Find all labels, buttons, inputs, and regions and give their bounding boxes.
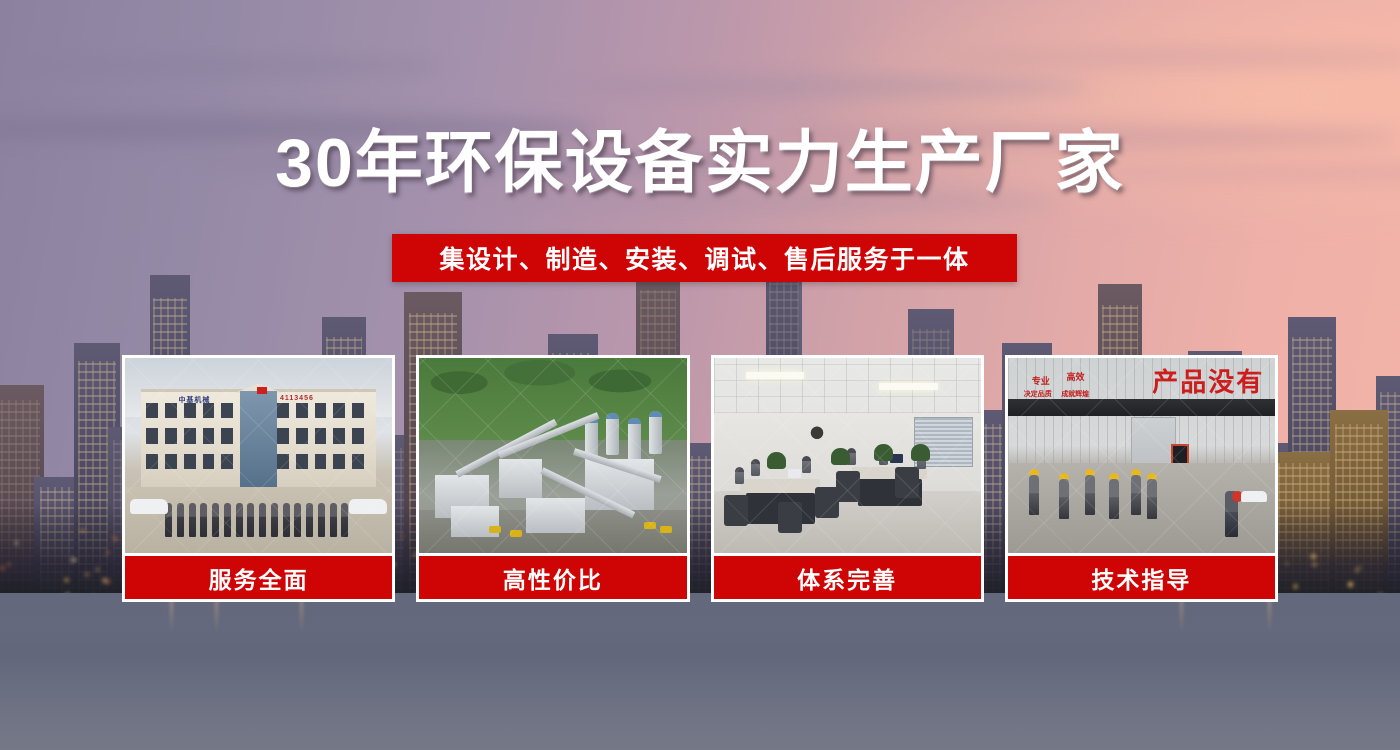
building-window: [165, 428, 177, 444]
building-window: [315, 403, 327, 419]
plant-shed: [499, 459, 542, 498]
card-caption: 体系完善: [711, 553, 984, 602]
staff-person: [271, 503, 278, 537]
building-window: [352, 403, 364, 419]
building-window: [315, 454, 327, 470]
shore-light: [80, 529, 85, 532]
cloud-band: [560, 77, 1092, 96]
factory-slogan-small: 决定品质: [1024, 389, 1052, 399]
building-window: [221, 403, 233, 419]
plant-shed: [451, 506, 499, 537]
page-title: 30年环保设备实力生产厂家: [0, 128, 1400, 199]
potted-plant: [911, 444, 930, 462]
shore-light: [1355, 568, 1359, 571]
staff-person: [318, 503, 325, 537]
building-window: [296, 454, 308, 470]
yellow-machine: [660, 526, 672, 533]
building-window: [165, 403, 177, 419]
shore-light: [71, 558, 75, 563]
potted-plant: [874, 444, 893, 462]
silo-cap: [628, 418, 641, 424]
staff-person: [306, 503, 313, 537]
building-window: [146, 454, 158, 470]
factory-slogan-small: 成就辉煌: [1061, 389, 1089, 399]
building-window: [333, 454, 345, 470]
office-ceiling: [714, 358, 981, 413]
storage-silo: [628, 418, 641, 461]
shore-light: [1348, 582, 1353, 587]
office-chair: [724, 495, 748, 526]
hard-hat-icon: [1059, 473, 1069, 479]
desk-surface: [740, 479, 820, 493]
shore-light: [106, 551, 109, 554]
yellow-machine: [489, 526, 501, 533]
hard-hat-icon: [1131, 469, 1141, 475]
staff-person: [236, 503, 243, 537]
hard-hat-icon: [1029, 469, 1039, 475]
office-interior-photo: [711, 355, 984, 553]
building-window: [184, 403, 196, 419]
feature-card[interactable]: 体系完善: [711, 355, 984, 605]
card-caption: 服务全面: [122, 553, 395, 602]
building-window: [352, 428, 364, 444]
building-window: [203, 428, 215, 444]
staff-person: [294, 503, 301, 537]
hard-hat-icon: [1085, 469, 1095, 475]
feature-card-list: 中基机械 4113456 服务全面 高性价比: [122, 355, 1278, 605]
subtitle-banner: 集设计、制造、安装、调试、售后服务于一体: [392, 234, 1017, 282]
ceiling-light: [879, 383, 938, 390]
factory-worker: [1059, 479, 1069, 519]
card-caption: 高性价比: [416, 553, 689, 602]
cloud-band: [28, 58, 448, 75]
company-headquarters-photo: 中基机械 4113456: [122, 355, 395, 553]
yellow-machine: [644, 522, 656, 529]
factory-worker: [1147, 479, 1157, 519]
computer-monitor: [788, 469, 801, 478]
shore-light: [1311, 554, 1316, 559]
building-window: [184, 454, 196, 470]
ceiling-light: [746, 372, 805, 379]
hard-hat-icon: [1109, 473, 1119, 479]
building-window: [333, 403, 345, 419]
feature-card[interactable]: 产品没有 专业 决定品质 高效 成就辉煌 技术指导: [1005, 355, 1278, 605]
factory-slogan-small: 专业: [1032, 374, 1050, 387]
building-window: [352, 454, 364, 470]
factory-slogan-small: 高效: [1067, 370, 1085, 383]
parked-car: [1241, 491, 1267, 502]
building-window: [146, 403, 158, 419]
building-window: [221, 428, 233, 444]
building-window: [146, 428, 158, 444]
glass-atrium: [240, 391, 277, 489]
staff-person: [212, 503, 219, 537]
factory-worker: [1029, 475, 1039, 515]
feature-card[interactable]: 高性价比: [416, 355, 689, 605]
building-window: [315, 428, 327, 444]
building-window: [333, 428, 345, 444]
wall-decal: [804, 422, 830, 440]
staff-person: [330, 503, 337, 537]
office-chair: [778, 502, 802, 533]
shore-light: [1312, 563, 1317, 566]
plant-shed: [526, 498, 585, 533]
office-worker: [735, 467, 744, 484]
flag-icon: [257, 387, 267, 394]
office-worker: [751, 459, 760, 476]
building-window: [203, 403, 215, 419]
office-chair: [836, 471, 860, 502]
factory-slogan-large: 产品没有: [1152, 362, 1264, 399]
building-window: [277, 403, 289, 419]
parked-car: [130, 499, 168, 514]
factory-worker: [1131, 475, 1141, 515]
building-window: [296, 428, 308, 444]
card-caption: 技术指导: [1005, 553, 1278, 602]
river-water: [0, 593, 1400, 750]
hard-hat-icon: [1147, 473, 1157, 479]
staff-person: [283, 503, 290, 537]
factory-worker: [1109, 479, 1119, 519]
staff-person: [341, 503, 348, 537]
yellow-machine: [510, 530, 522, 537]
shore-light: [1294, 584, 1297, 588]
building-window: [277, 454, 289, 470]
building-window: [296, 403, 308, 419]
shore-light: [113, 536, 117, 541]
forest-background: [419, 358, 686, 440]
building-window: [165, 454, 177, 470]
shore-light: [1, 566, 4, 570]
staff-person: [259, 503, 266, 537]
aerial-factory-plant-photo: [416, 355, 689, 553]
building-phone-text: 4113456: [280, 395, 314, 402]
potted-plant: [767, 452, 786, 470]
office-chair: [895, 467, 919, 498]
shore-light: [103, 578, 106, 583]
shore-light: [106, 579, 110, 584]
feature-card[interactable]: 中基机械 4113456 服务全面: [122, 355, 395, 605]
shore-light: [15, 541, 18, 544]
workers-training-photo: 产品没有 专业 决定品质 高效 成就辉煌: [1005, 355, 1278, 553]
office-worker: [802, 456, 811, 473]
building-window: [221, 454, 233, 470]
potted-plant: [831, 448, 850, 466]
building-window: [184, 428, 196, 444]
factory-worker: [1085, 475, 1095, 515]
promo-banner: 30年环保设备实力生产厂家 集设计、制造、安装、调试、售后服务于一体 中基机械 …: [0, 0, 1400, 750]
staff-person: [224, 503, 231, 537]
staff-person: [189, 503, 196, 537]
staff-person: [177, 503, 184, 537]
building-window: [203, 454, 215, 470]
staff-person: [200, 503, 207, 537]
building-window: [277, 428, 289, 444]
parked-car: [349, 499, 387, 514]
staff-person: [247, 503, 254, 537]
facade-window-band: [1008, 399, 1275, 417]
storage-silo: [649, 411, 662, 454]
storage-silo: [606, 413, 619, 456]
